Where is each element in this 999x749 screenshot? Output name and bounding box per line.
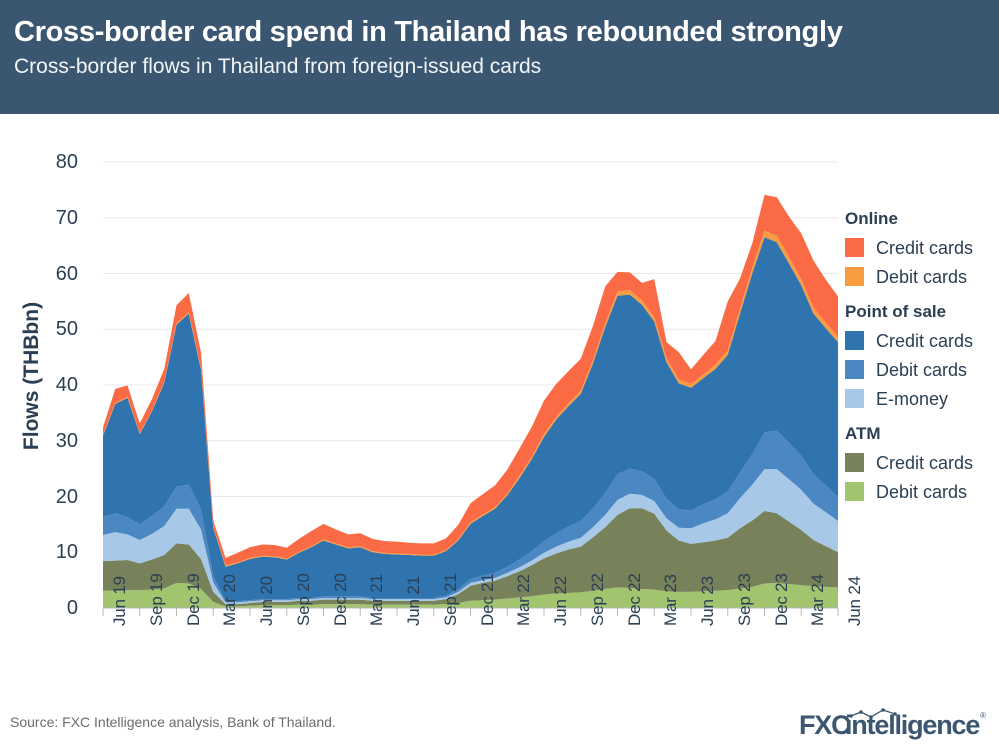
x-axis-tick-label: Mar 23 bbox=[661, 574, 681, 626]
x-axis-tick-label: Dec 21 bbox=[478, 573, 498, 626]
legend-item[interactable]: Debit cards bbox=[845, 262, 999, 291]
legend-item-label: Credit cards bbox=[876, 453, 973, 473]
legend-item[interactable]: E-money bbox=[845, 384, 999, 413]
legend-group-title-point-of-sale: Point of sale bbox=[845, 301, 999, 323]
source-note: Source: FXC Intelligence analysis, Bank … bbox=[10, 714, 336, 730]
legend-swatch-icon bbox=[845, 238, 864, 257]
page-title: Cross-border card spend in Thailand has … bbox=[14, 12, 999, 52]
legend-swatch-icon bbox=[845, 331, 864, 350]
legend-group-spacer bbox=[845, 413, 999, 423]
legend-swatch-icon bbox=[845, 360, 864, 379]
page-subtitle: Cross-border flows in Thailand from fore… bbox=[14, 52, 999, 82]
fxc-intelligence-logo: FXC intelligence ® bbox=[799, 706, 989, 742]
chart-footer: Source: FXC Intelligence analysis, Bank … bbox=[0, 700, 999, 749]
x-axis-tick-label: Jun 22 bbox=[551, 576, 571, 626]
x-axis-tick-label: Mar 22 bbox=[514, 574, 534, 626]
chart-header: Cross-border card spend in Thailand has … bbox=[0, 0, 999, 114]
x-axis-tick-label: Mar 24 bbox=[808, 574, 828, 626]
legend-group-spacer bbox=[845, 291, 999, 301]
x-axis-tick-label: Jun 20 bbox=[257, 576, 277, 626]
x-axis-tick-label: Jun 21 bbox=[404, 576, 424, 626]
x-axis-tick-label: Sep 19 bbox=[147, 573, 167, 626]
legend-item[interactable]: Debit cards bbox=[845, 477, 999, 506]
legend-swatch-icon bbox=[845, 482, 864, 501]
x-axis-tick-label: Jun 19 bbox=[110, 576, 130, 626]
x-axis-tick-label: Sep 22 bbox=[588, 573, 608, 626]
x-axis-tick-label: Dec 19 bbox=[184, 573, 204, 626]
legend-item-label: E-money bbox=[876, 389, 948, 409]
legend-item-label: Debit cards bbox=[876, 360, 967, 380]
x-axis-tick-label: Sep 23 bbox=[735, 573, 755, 626]
legend-item[interactable]: Credit cards bbox=[845, 448, 999, 477]
svg-text:FXC: FXC bbox=[799, 710, 850, 740]
legend-group-title-atm: ATM bbox=[845, 423, 999, 445]
legend-swatch-icon bbox=[845, 453, 864, 472]
x-axis-tick-label: Sep 20 bbox=[294, 573, 314, 626]
legend-item-label: Debit cards bbox=[876, 482, 967, 502]
x-axis-tick-label: Dec 22 bbox=[625, 573, 645, 626]
chart-legend: OnlineCredit cardsDebit cardsPoint of sa… bbox=[845, 208, 999, 506]
x-axis-tick-label: Sep 21 bbox=[441, 573, 461, 626]
x-axis-tick-label: Mar 20 bbox=[220, 574, 240, 626]
svg-text:®: ® bbox=[980, 711, 986, 720]
legend-group-title-online: Online bbox=[845, 208, 999, 230]
legend-item[interactable]: Debit cards bbox=[845, 355, 999, 384]
legend-swatch-icon bbox=[845, 389, 864, 408]
legend-item[interactable]: Credit cards bbox=[845, 233, 999, 262]
legend-item-label: Credit cards bbox=[876, 238, 973, 258]
x-axis-tick-label: Dec 23 bbox=[772, 573, 792, 626]
x-axis-tick-label: Dec 20 bbox=[331, 573, 351, 626]
x-axis-tick-label: Jun 23 bbox=[698, 576, 718, 626]
legend-item[interactable]: Credit cards bbox=[845, 326, 999, 355]
legend-swatch-icon bbox=[845, 267, 864, 286]
legend-item-label: Credit cards bbox=[876, 331, 973, 351]
legend-item-label: Debit cards bbox=[876, 267, 967, 287]
x-axis-tick-label: Jun 24 bbox=[845, 576, 865, 626]
x-axis-tick-label: Mar 21 bbox=[367, 574, 387, 626]
